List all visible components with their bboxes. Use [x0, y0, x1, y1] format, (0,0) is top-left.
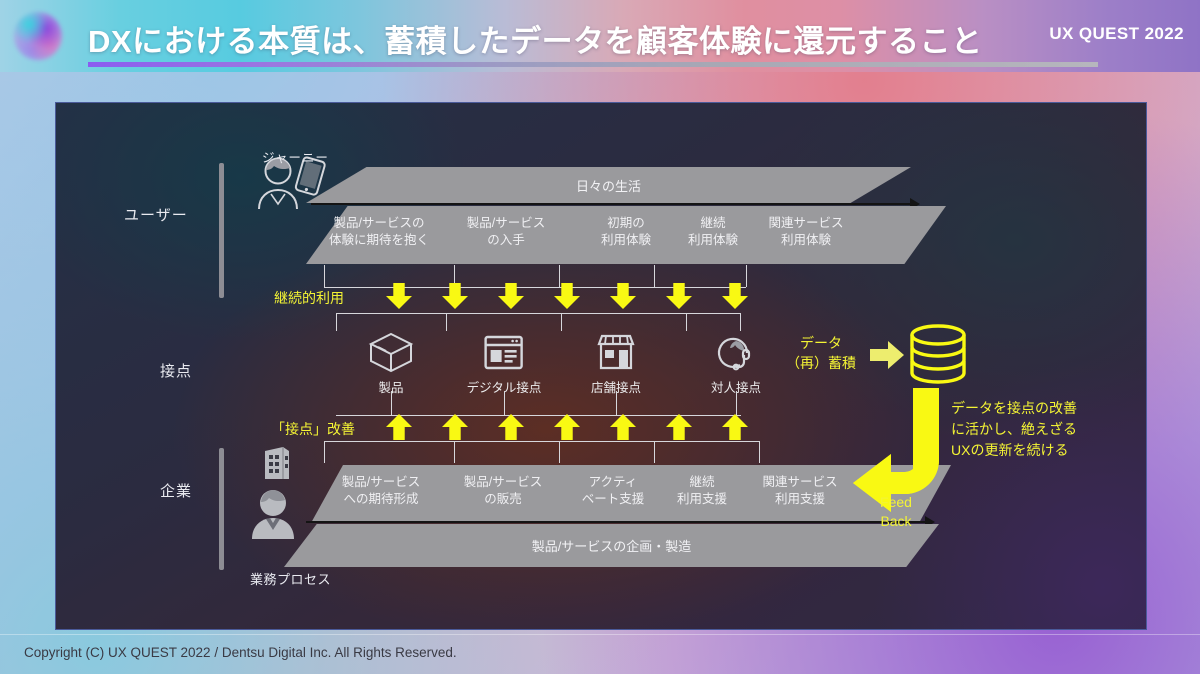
touchpoint-top-tick-0: [336, 313, 337, 331]
data-note-line1: データ: [778, 333, 864, 353]
user-stage-4-line1: 関連サービス: [768, 215, 843, 232]
touchpoint-top-tick-3: [686, 313, 687, 331]
user-timeline-arrow: [311, 203, 911, 205]
user-stage-2: 初期の 利用体験: [601, 215, 651, 249]
touchpoint-bottom-tick-1: [504, 391, 505, 415]
user-stage-0-line2: 体験に期待を抱く: [329, 232, 429, 249]
user-stage-4-line2: 利用体験: [768, 232, 843, 249]
touchpoint-bottom-tick-3: [736, 391, 737, 415]
up-arrow-1: [442, 414, 468, 440]
row-label-company: 企業: [160, 480, 192, 501]
touchpoint-store[interactable]: 店舗接点: [591, 331, 641, 396]
office-building-icon: [255, 443, 299, 483]
company-stage-2-line1: アクティ: [582, 474, 645, 491]
user-row-divider: [219, 163, 224, 298]
feedback-label: Feed Back: [856, 493, 936, 531]
company-tick-3: [654, 441, 655, 463]
up-arrow-2: [498, 414, 524, 440]
process-band-label: 製品/サービスの企画・製造: [532, 536, 692, 555]
company-stage-2: アクティ ベート支援: [582, 474, 645, 508]
user-stage-1-line1: 製品/サービス: [467, 215, 545, 232]
business-process-label: 業務プロセス: [250, 569, 331, 588]
touchpoint-top-tick-1: [446, 313, 447, 331]
company-tick-1: [454, 441, 455, 463]
company-tick-4: [759, 441, 760, 463]
gradient-orb-logo-icon: [14, 12, 62, 60]
user-tick-2: [559, 265, 560, 287]
box-package-icon: [368, 331, 414, 373]
up-arrow-4: [610, 414, 636, 440]
continuous-use-label: 継続的利用: [274, 288, 344, 308]
feedback-description: データを接点の改善 に活かし、絶えざる UXの更新を続ける: [951, 398, 1077, 461]
user-stage-3: 継続 利用体験: [688, 215, 738, 249]
company-timeline-arrow: [306, 521, 926, 523]
company-stage-4-line2: 利用支援: [762, 491, 837, 508]
user-tick-4: [746, 265, 747, 287]
company-icons: [254, 443, 300, 541]
user-stage-2-line1: 初期の: [601, 215, 651, 232]
company-stage-0: 製品/サービス への期待形成: [342, 474, 420, 508]
user-stage-3-line1: 継続: [688, 215, 738, 232]
daily-life-band: 日々の生活: [306, 167, 911, 203]
journey-label: ジャーニー: [262, 147, 329, 166]
browser-window-icon: [483, 331, 525, 373]
user-tick-3: [654, 265, 655, 287]
feedback-label-line2: Back: [856, 512, 936, 531]
touchpoint-bottom-tick-0: [391, 391, 392, 415]
data-accumulate-note: データ （再）蓄積: [778, 333, 864, 373]
slide-root: DXにおける本質は、蓄積したデータを顧客体験に還元すること UX QUEST 2…: [0, 0, 1200, 674]
company-stage-1-line2: の販売: [464, 491, 542, 508]
footer-copyright: Copyright (C) UX QUEST 2022 / Dentsu Dig…: [24, 645, 457, 660]
user-stage-0-line1: 製品/サービスの: [329, 215, 429, 232]
touchpoint-bottom-tick-2: [616, 391, 617, 415]
company-stage-1: 製品/サービス の販売: [464, 474, 542, 508]
touchpoint-product[interactable]: 製品: [368, 331, 414, 396]
touchpoint-top-tick-4: [740, 313, 741, 331]
company-stage-0-line2: への期待形成: [342, 491, 420, 508]
user-stage-2-line2: 利用体験: [601, 232, 651, 249]
row-label-user: ユーザー: [124, 204, 188, 225]
touchpoint-improve-label: 「接点」改善: [271, 419, 355, 439]
headset-agent-icon: [714, 331, 758, 373]
company-stage-3-line1: 継続: [677, 474, 727, 491]
touchpoint-digital[interactable]: デジタル接点: [467, 331, 542, 396]
touchpoint-human[interactable]: 対人接点: [711, 331, 761, 396]
daily-life-band-label: 日々の生活: [576, 176, 641, 195]
user-stage-1-line2: の入手: [467, 232, 545, 249]
user-stage-3-line2: 利用体験: [688, 232, 738, 249]
touchpoint-top-tick-2: [561, 313, 562, 331]
business-person-icon: [246, 485, 300, 541]
company-tick-0: [324, 441, 325, 463]
up-arrow-3: [554, 414, 580, 440]
brand-label: UX QUEST 2022: [1049, 24, 1184, 44]
diagram-panel: ユーザー 接点 企業 ジャーニー 日々の生活: [55, 102, 1147, 630]
company-stage-2-line2: ベート支援: [582, 491, 645, 508]
user-tick-0: [324, 265, 325, 287]
row-label-touchpoint: 接点: [160, 360, 192, 381]
company-stage-4-line1: 関連サービス: [762, 474, 837, 491]
process-band: 製品/サービスの企画・製造: [284, 524, 939, 567]
company-tick-rail: [324, 441, 759, 442]
user-stage-0: 製品/サービスの 体験に期待を抱く: [329, 215, 429, 249]
footer-divider: [0, 634, 1200, 635]
company-stage-1-line1: 製品/サービス: [464, 474, 542, 491]
up-arrow-5: [666, 414, 692, 440]
data-note-line2: （再）蓄積: [778, 353, 864, 373]
company-stage-4: 関連サービス 利用支援: [762, 474, 837, 508]
up-arrow-6: [722, 414, 748, 440]
up-arrow-0: [386, 414, 412, 440]
page-title: DXにおける本質は、蓄積したデータを顧客体験に還元すること: [88, 16, 983, 61]
company-stage-0-line1: 製品/サービス: [342, 474, 420, 491]
user-stage-1: 製品/サービス の入手: [467, 215, 545, 249]
user-stage-4: 関連サービス 利用体験: [768, 215, 843, 249]
company-stage-3: 継続 利用支援: [677, 474, 727, 508]
company-stage-3-line2: 利用支援: [677, 491, 727, 508]
feedback-label-line1: Feed: [856, 493, 936, 512]
title-underline-rule: [88, 62, 1098, 67]
touchpoint-top-rail: [336, 313, 741, 314]
storefront-icon: [594, 331, 638, 373]
database-stack-icon: [866, 321, 976, 397]
company-tick-2: [559, 441, 560, 463]
company-row-divider: [219, 448, 224, 570]
